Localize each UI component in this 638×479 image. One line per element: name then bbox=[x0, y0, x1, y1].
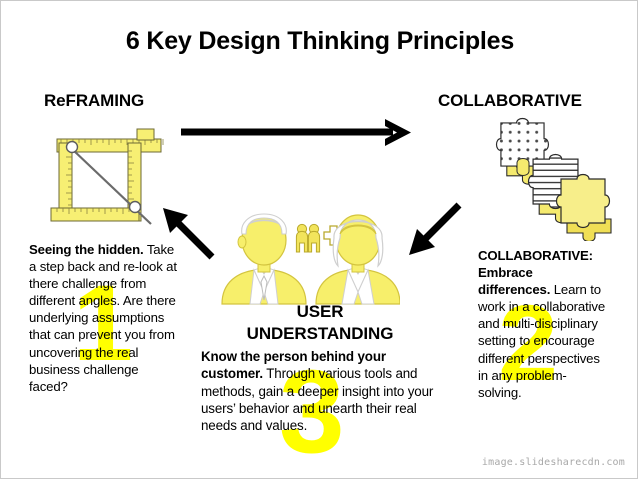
page-title: 6 Key Design Thinking Principles bbox=[1, 28, 638, 56]
section-header-collaborative: COLLABORATIVE bbox=[438, 91, 582, 111]
principle-body-1: Take a step back and re-look at there ch… bbox=[29, 242, 177, 394]
slide-canvas: 6 Key Design Thinking Principles ReFRAMI… bbox=[0, 0, 638, 479]
principle-block-user-understanding: Know the person behind your customer. Th… bbox=[201, 348, 444, 435]
principle-block-collaborative: COLLABORATIVE: Embrace differences. Lear… bbox=[478, 247, 608, 401]
user-personas-illustration bbox=[214, 204, 400, 306]
principle-body-2: Learn to work in a collaborative and mul… bbox=[478, 282, 605, 400]
puzzle-pieces-illustration bbox=[495, 113, 621, 241]
ruler-frame-illustration bbox=[43, 125, 175, 237]
center-heading: USER UNDERSTANDING bbox=[199, 301, 441, 345]
watermark: image.slidesharecdn.com bbox=[482, 457, 625, 468]
arrow-to-collaborative bbox=[405, 201, 463, 264]
principle-block-reframing: Seeing the hidden. Take a step back and … bbox=[29, 241, 177, 395]
center-heading-line2: UNDERSTANDING bbox=[199, 323, 441, 345]
principle-heading-1: Seeing the hidden. bbox=[29, 242, 144, 257]
section-header-reframing: ReFRAMING bbox=[44, 91, 144, 111]
arrow-reframing-to-collaborative bbox=[179, 117, 419, 160]
